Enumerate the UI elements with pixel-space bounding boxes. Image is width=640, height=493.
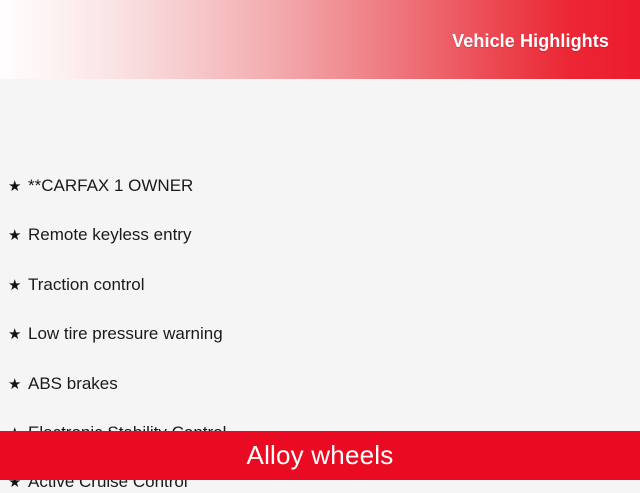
vehicle-highlights-panel: Vehicle Highlights ★ **CARFAX 1 OWNER ★ … xyxy=(0,0,640,480)
list-item-label: Low tire pressure warning xyxy=(28,323,223,345)
list-item-label: ABS brakes xyxy=(28,373,118,395)
star-icon: ★ xyxy=(8,278,28,293)
list-item: ★ Traction control xyxy=(0,274,640,296)
panel-header: Vehicle Highlights xyxy=(0,0,640,79)
list-item-label: **CARFAX 1 OWNER xyxy=(28,175,193,197)
star-icon: ★ xyxy=(8,179,28,194)
list-item: ★ Remote keyless entry xyxy=(0,224,640,246)
list-item-label: Traction control xyxy=(28,274,145,296)
page-title: Vehicle Highlights xyxy=(452,31,609,52)
list-item-label: Remote keyless entry xyxy=(28,224,191,246)
list-item: ★ **CARFAX 1 OWNER xyxy=(0,175,640,197)
star-icon: ★ xyxy=(8,228,28,243)
footer-title: Alloy wheels xyxy=(247,440,394,471)
list-item: ★ Low tire pressure warning xyxy=(0,323,640,345)
highlights-list: ★ **CARFAX 1 OWNER ★ Remote keyless entr… xyxy=(0,79,640,431)
list-item: ★ ABS brakes xyxy=(0,373,640,395)
star-icon: ★ xyxy=(8,377,28,392)
star-icon: ★ xyxy=(8,327,28,342)
panel-footer: Alloy wheels xyxy=(0,431,640,480)
